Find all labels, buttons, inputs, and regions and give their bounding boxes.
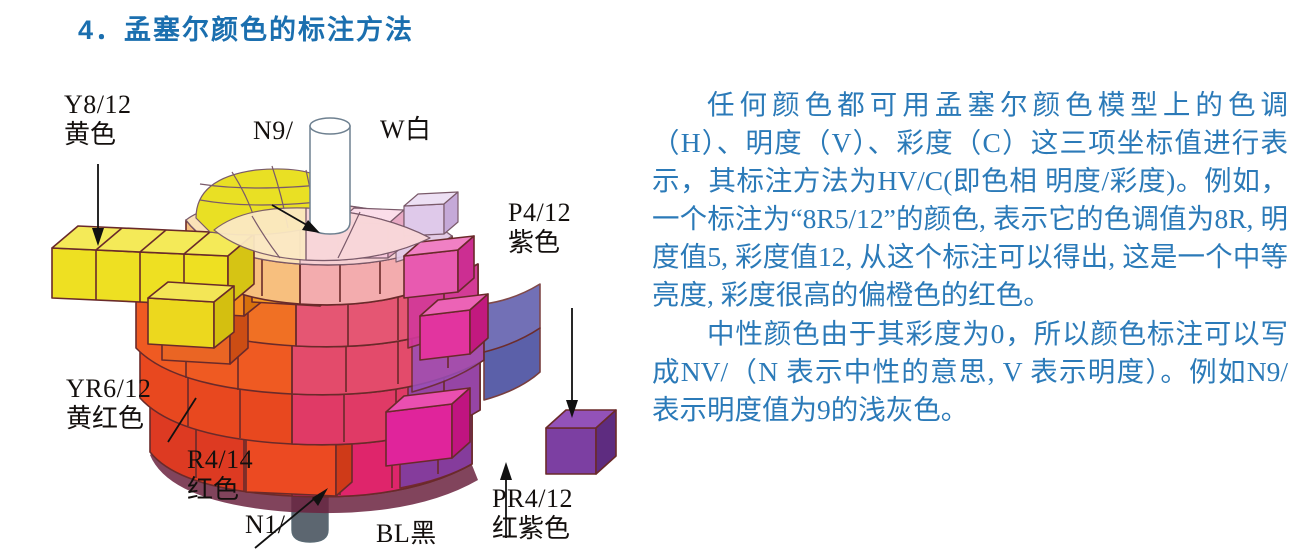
label-pr4-12-cn: 红紫色	[492, 514, 573, 544]
yellow-chroma-arm	[52, 226, 254, 348]
label-bl-black-code: BL黑	[376, 519, 437, 549]
label-w-white-code: W白	[380, 115, 432, 145]
label-n9: N9/	[253, 116, 294, 146]
label-p4-12-cn: 紫色	[508, 228, 571, 258]
label-yr6-12-cn: 黄红色	[66, 404, 151, 434]
label-y8-12: Y8/12 黄色	[64, 90, 132, 150]
label-n1: N1/	[245, 510, 286, 540]
label-w-white: W白	[380, 115, 432, 145]
label-n9-code: N9/	[253, 116, 294, 146]
page-title: 4．孟塞尔颜色的标注方法	[78, 8, 414, 47]
label-p4-12: P4/12 紫色	[508, 198, 571, 258]
label-pr4-12-code: PR4/12	[492, 484, 573, 514]
slide-page: 4．孟塞尔颜色的标注方法 .ol{stroke:#6a2a2a;stroke-w…	[0, 0, 1293, 555]
block-p4-12-purple	[546, 410, 616, 474]
label-p4-12-code: P4/12	[508, 198, 571, 228]
body-paragraph-2: 中性颜色由于其彩度为0，所以颜色标注可以写成NV/（N 表示中性的意思, V 表…	[652, 315, 1288, 429]
white-axis-cylinder	[310, 118, 350, 234]
body-paragraph-1: 任何颜色都可用孟塞尔颜色模型上的色调（H）、明度（V）、彩度（C）这三项坐标值进…	[652, 86, 1288, 314]
label-y8-12-cn: 黄色	[64, 120, 132, 150]
label-y8-12-code: Y8/12	[64, 90, 132, 120]
label-n1-code: N1/	[245, 510, 286, 540]
label-pr4-12: PR4/12 红紫色	[492, 484, 573, 544]
body-text-block: 任何颜色都可用孟塞尔颜色模型上的色调（H）、明度（V）、彩度（C）这三项坐标值进…	[652, 86, 1288, 429]
label-yr6-12: YR6/12 黄红色	[66, 374, 151, 434]
blue-violet-wedge	[484, 284, 540, 400]
label-r4-14-code: R4/14	[187, 445, 253, 475]
label-r4-14-cn: 红色	[187, 475, 253, 505]
label-r4-14: R4/14 红色	[187, 445, 253, 505]
label-yr6-12-code: YR6/12	[66, 374, 151, 404]
label-bl-black: BL黑	[376, 519, 437, 549]
